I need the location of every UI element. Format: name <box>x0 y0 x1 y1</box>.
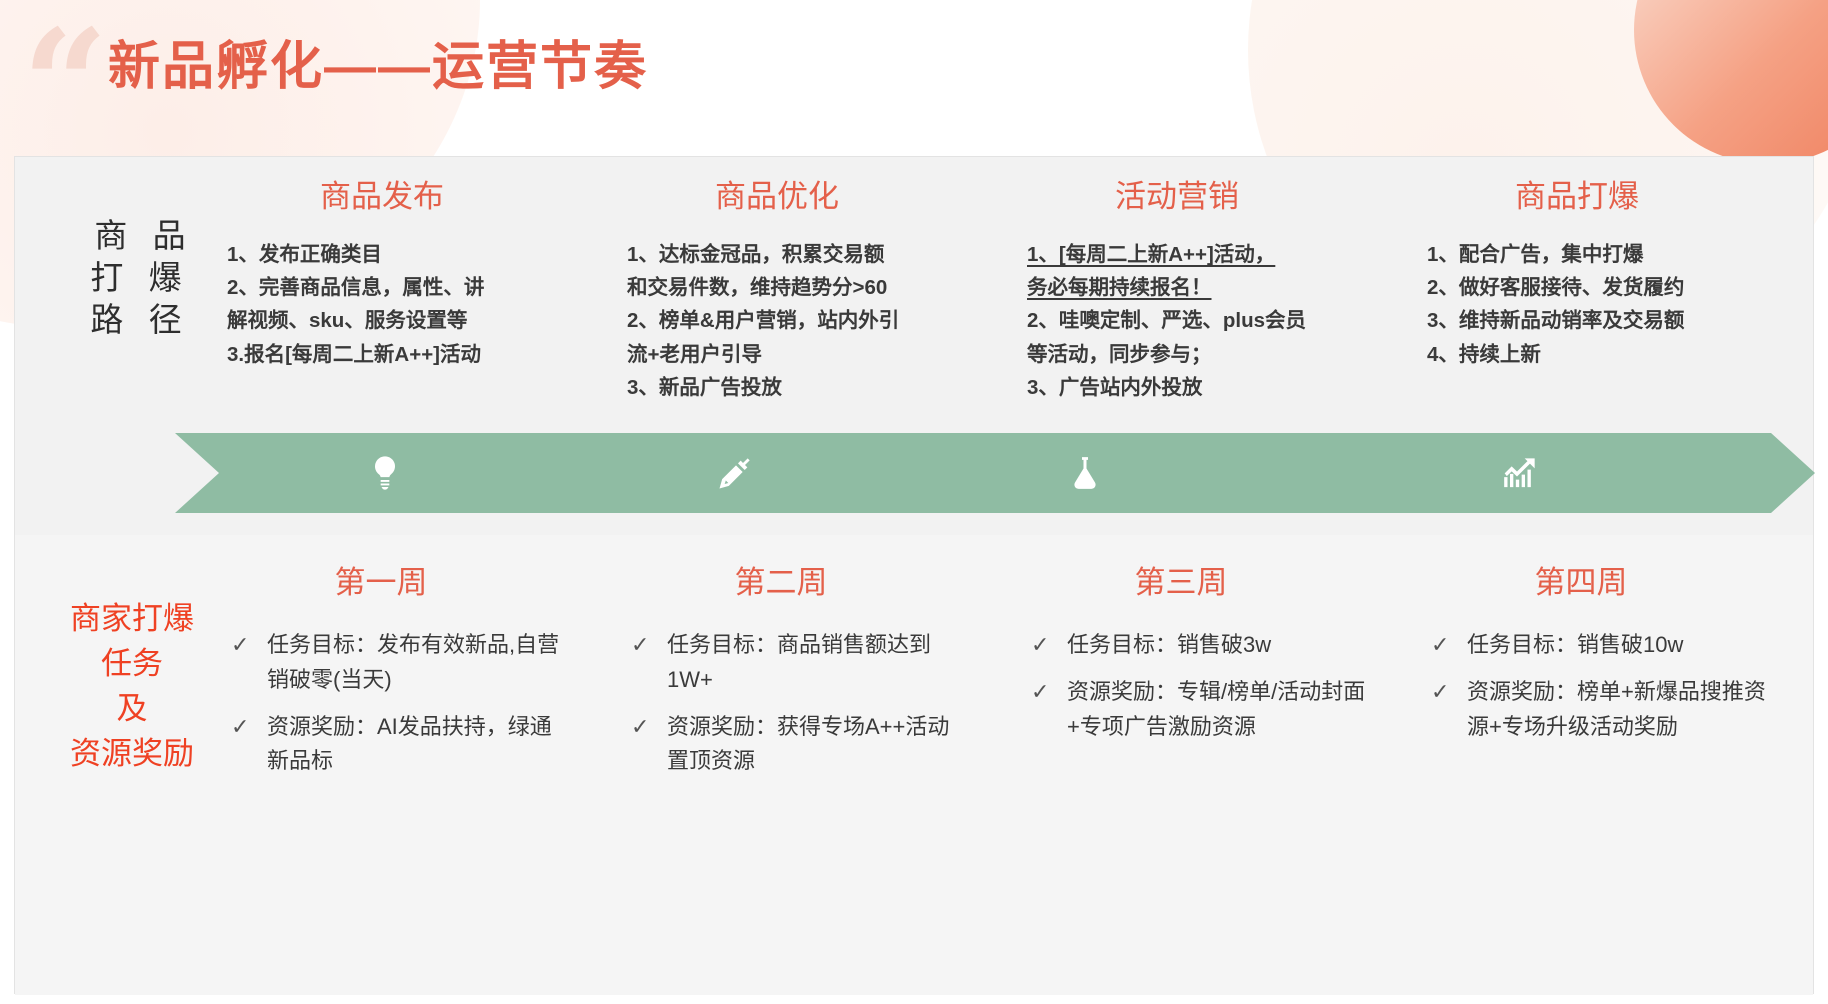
list-item: ✓ 资源奖励：AI发品扶持，绿通新品标 <box>231 710 561 780</box>
stage-line: 等活动，同步参与； <box>1027 338 1377 371</box>
stage-line: 2、榜单&用户营销，站内外引 <box>627 304 967 337</box>
stage-body: 1、发布正确类目 2、完善商品信息，属性、讲 解视频、sku、服务设置等 3.报… <box>227 238 557 371</box>
lightbulb-icon <box>362 450 408 496</box>
stage-line: 2、完善商品信息，属性、讲 <box>227 271 557 304</box>
quote-mark-icon: “ <box>22 10 102 160</box>
check-icon: ✓ <box>631 628 659 662</box>
week-column-4: 第四周 ✓ 任务目标：销售破10w ✓ 资源奖励：榜单+新爆品搜推资源+专场升级… <box>1431 557 1781 756</box>
stage-chevron-ribbon <box>175 433 1815 513</box>
stage-line-underlined: 1、[每周二上新A++]活动， <box>1027 238 1377 271</box>
launch-path-side-label: 商 品 打 爆 路 径 <box>55 215 225 342</box>
list-item: ✓ 资源奖励：榜单+新爆品搜推资源+专场升级活动奖励 <box>1431 675 1781 745</box>
week-title: 第二周 <box>631 557 931 602</box>
list-item: ✓ 任务目标：商品销售额达到1W+ <box>631 628 961 698</box>
list-item: ✓ 任务目标：销售破10w <box>1431 628 1781 663</box>
week-item-text: 资源奖励：AI发品扶持，绿通新品标 <box>267 710 561 780</box>
check-icon: ✓ <box>231 710 259 744</box>
weekly-tasks-section: 商家打爆 任务 及 资源奖励 第一周 ✓ 任务目标：发布有效新品,自营销破零(当… <box>15 535 1813 995</box>
check-icon: ✓ <box>1431 628 1459 662</box>
stage-body: 1、[每周二上新A++]活动， 务必每期持续报名！ 2、哇噢定制、严选、plus… <box>1027 238 1377 404</box>
stage-line: 3、广告站内外投放 <box>1027 371 1377 404</box>
content-panel: 商 品 打 爆 路 径 商品发布 1、发布正确类目 2、完善商品信息，属性、讲 … <box>14 156 1814 994</box>
stage-column-product-optimization: 商品优化 1、达标金冠品，积累交易额 和交易件数，维持趋势分>60 2、榜单&用… <box>627 171 967 404</box>
chevron-segment-1 <box>175 433 595 513</box>
stage-body: 1、达标金冠品，积累交易额 和交易件数，维持趋势分>60 2、榜单&用户营销，站… <box>627 238 967 404</box>
pen-nib-icon <box>712 450 758 496</box>
week-column-2: 第二周 ✓ 任务目标：商品销售额达到1W+ ✓ 资源奖励：获得专场A++活动置顶… <box>631 557 961 791</box>
list-item: ✓ 任务目标：销售破3w <box>1031 628 1381 663</box>
flask-icon <box>1062 450 1108 496</box>
stage-line-underlined: 务必每期持续报名！ <box>1027 271 1377 304</box>
week-item-text: 资源奖励：获得专场A++活动置顶资源 <box>667 710 961 780</box>
weekly-tasks-side-label: 商家打爆 任务 及 资源奖励 <box>37 597 227 777</box>
week-column-1: 第一周 ✓ 任务目标：发布有效新品,自营销破零(当天) ✓ 资源奖励：AI发品扶… <box>231 557 561 791</box>
week-item-text: 任务目标：销售破3w <box>1067 628 1271 663</box>
slide-header: “ 新品孵化——运营节奏 <box>0 0 1828 120</box>
week-column-3: 第三周 ✓ 任务目标：销售破3w ✓ 资源奖励：专辑/榜单/活动封面+专项广告激… <box>1031 557 1381 756</box>
week-item-text: 任务目标：商品销售额达到1W+ <box>667 628 961 698</box>
stage-column-product-release: 商品发布 1、发布正确类目 2、完善商品信息，属性、讲 解视频、sku、服务设置… <box>227 171 557 371</box>
stage-line: 和交易件数，维持趋势分>60 <box>627 271 967 304</box>
week-item-text: 任务目标：发布有效新品,自营销破零(当天) <box>267 628 561 698</box>
page-title: 新品孵化——运营节奏 <box>108 24 648 99</box>
check-icon: ✓ <box>1031 628 1059 662</box>
stage-title: 商品发布 <box>227 171 537 216</box>
week-title: 第四周 <box>1431 557 1731 602</box>
list-item: ✓ 任务目标：发布有效新品,自营销破零(当天) <box>231 628 561 698</box>
stage-line: 2、做好客服接待、发货履约 <box>1427 271 1777 304</box>
stage-column-campaign-marketing: 活动营销 1、[每周二上新A++]活动， 务必每期持续报名！ 2、哇噢定制、严选… <box>1027 171 1377 404</box>
chevron-segment-4 <box>1225 433 1815 513</box>
stage-body: 1、配合广告，集中打爆 2、做好客服接待、发货履约 3、维持新品动销率及交易额 … <box>1427 238 1777 371</box>
chevron-segment-3 <box>875 433 1295 513</box>
stage-line: 1、配合广告，集中打爆 <box>1427 238 1777 271</box>
stage-title: 活动营销 <box>1027 171 1327 216</box>
check-icon: ✓ <box>631 710 659 744</box>
check-icon: ✓ <box>231 628 259 662</box>
week-item-text: 资源奖励：榜单+新爆品搜推资源+专场升级活动奖励 <box>1467 675 1781 745</box>
stage-line: 解视频、sku、服务设置等 <box>227 304 557 337</box>
week-item-text: 任务目标：销售破10w <box>1467 628 1683 663</box>
stage-line: 1、发布正确类目 <box>227 238 557 271</box>
week-item-text: 资源奖励：专辑/榜单/活动封面+专项广告激励资源 <box>1067 675 1381 745</box>
stage-line: 3、维持新品动销率及交易额 <box>1427 304 1777 337</box>
week-title: 第三周 <box>1031 557 1331 602</box>
stage-title: 商品打爆 <box>1427 171 1727 216</box>
stage-line: 3、新品广告投放 <box>627 371 967 404</box>
stage-line: 2、哇噢定制、严选、plus会员 <box>1027 304 1377 337</box>
stage-line: 流+老用户引导 <box>627 338 967 371</box>
stage-column-product-breakout: 商品打爆 1、配合广告，集中打爆 2、做好客服接待、发货履约 3、维持新品动销率… <box>1427 171 1777 371</box>
check-icon: ✓ <box>1431 675 1459 709</box>
stage-line: 1、达标金冠品，积累交易额 <box>627 238 967 271</box>
week-title: 第一周 <box>231 557 531 602</box>
list-item: ✓ 资源奖励：专辑/榜单/活动封面+专项广告激励资源 <box>1031 675 1381 745</box>
list-item: ✓ 资源奖励：获得专场A++活动置顶资源 <box>631 710 961 780</box>
chevron-segment-2 <box>525 433 945 513</box>
stage-title: 商品优化 <box>627 171 927 216</box>
stage-line: 4、持续上新 <box>1427 338 1777 371</box>
growth-chart-icon <box>1497 450 1543 496</box>
stage-line: 3.报名[每周二上新A++]活动 <box>227 338 557 371</box>
check-icon: ✓ <box>1031 675 1059 709</box>
